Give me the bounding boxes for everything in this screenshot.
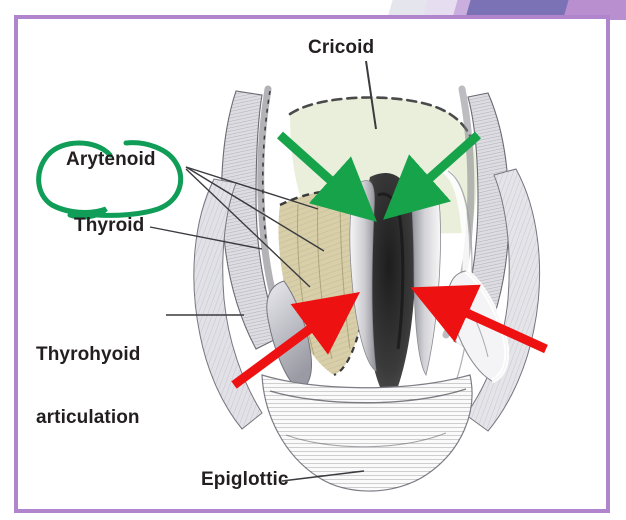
label-epiglottic: Epiglottic [201, 469, 289, 490]
label-cricoid: Cricoid [308, 37, 374, 58]
label-arytenoid: Arytenoid [66, 149, 156, 170]
slide-screenshot: Cricoid Arytenoid Thyroid Thyrohyoid art… [0, 0, 626, 520]
image-frame: Cricoid Arytenoid Thyroid Thyrohyoid art… [14, 15, 610, 513]
label-thyrohyoid-line2: articulation [36, 407, 140, 428]
label-thyroid: Thyroid [74, 215, 144, 236]
label-thyrohyoid-articulation: Thyrohyoid articulation [36, 301, 140, 471]
label-thyrohyoid-line1: Thyrohyoid [36, 344, 140, 365]
